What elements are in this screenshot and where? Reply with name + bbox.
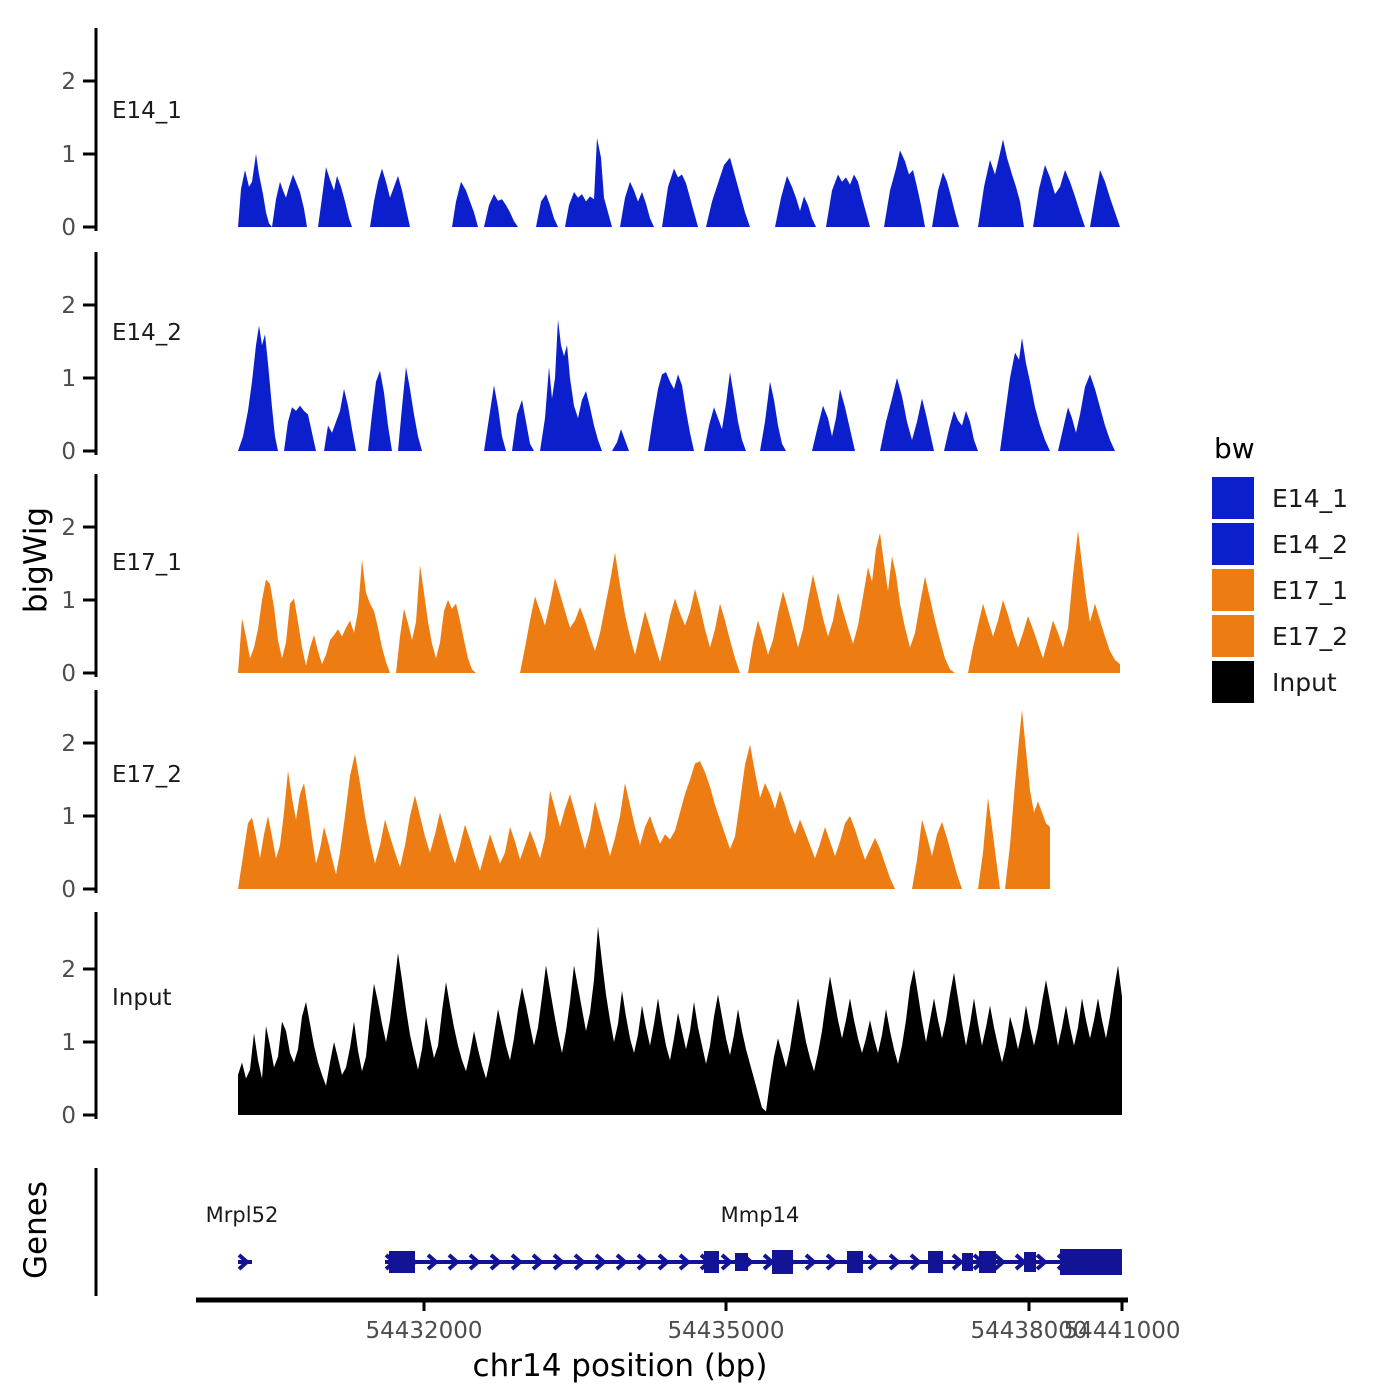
gene-exon-Mmp14-7 bbox=[962, 1253, 973, 1271]
y-tick-label-E17_1-0: 0 bbox=[61, 661, 76, 687]
track-label-E17_2: E17_2 bbox=[112, 762, 182, 788]
legend: bw E14_1 E14_2 E17_1 E17_2 Input bbox=[1212, 432, 1348, 705]
legend-swatch-e17-2 bbox=[1212, 615, 1254, 657]
x-tick-label-54432000: 54432000 bbox=[365, 1318, 482, 1344]
y-tick-label-Input-2: 2 bbox=[61, 957, 76, 983]
y-tick-label-Input-1: 1 bbox=[61, 1030, 76, 1056]
gene-exon-Mmp14-4 bbox=[772, 1250, 793, 1274]
legend-swatch-input bbox=[1212, 661, 1254, 703]
legend-swatch-e14-2 bbox=[1212, 523, 1254, 565]
coverage-plot: 012E14_1012E14_2012E17_1012E17_2012Input… bbox=[0, 0, 1400, 1400]
coverage-area-Input bbox=[238, 927, 1122, 1115]
legend-item-e17-1[interactable]: E17_1 bbox=[1212, 567, 1348, 613]
y-tick-label-E17_2-0: 0 bbox=[61, 877, 76, 903]
coverage-area-E17_1 bbox=[238, 531, 1120, 673]
legend-item-e17-2[interactable]: E17_2 bbox=[1212, 613, 1348, 659]
gene-exon-Mmp14-1 bbox=[389, 1251, 415, 1273]
track-label-Input: Input bbox=[112, 985, 172, 1011]
gene-label-Mmp14: Mmp14 bbox=[721, 1203, 800, 1227]
gene-exon-Mmp14-9 bbox=[1024, 1252, 1036, 1272]
gene-exon-Mmp14-5 bbox=[847, 1251, 863, 1273]
legend-swatch-e14-1 bbox=[1212, 477, 1254, 519]
legend-label-e14-1: E14_1 bbox=[1272, 484, 1348, 513]
gene-exon-Mmp14-8 bbox=[979, 1251, 996, 1273]
y-tick-label-Input-0: 0 bbox=[61, 1103, 76, 1129]
gene-exon-Mmp14-3 bbox=[735, 1253, 748, 1271]
legend-label-e14-2: E14_2 bbox=[1272, 530, 1348, 559]
y-tick-label-E17_2-1: 1 bbox=[61, 804, 76, 830]
y-tick-label-E14_2-2: 2 bbox=[61, 293, 76, 319]
y-tick-label-E17_2-2: 2 bbox=[61, 731, 76, 757]
y-tick-label-E14_2-1: 1 bbox=[61, 366, 76, 392]
track-label-E17_1: E17_1 bbox=[112, 550, 182, 576]
gene-label-Mrpl52: Mrpl52 bbox=[206, 1203, 279, 1227]
legend-item-input[interactable]: Input bbox=[1212, 659, 1348, 705]
y-tick-label-E14_1-1: 1 bbox=[61, 142, 76, 168]
track-label-E14_2: E14_2 bbox=[112, 320, 182, 346]
coverage-area-E14_1 bbox=[238, 138, 1120, 227]
legend-swatch-e17-1 bbox=[1212, 569, 1254, 611]
track-label-E14_1: E14_1 bbox=[112, 98, 182, 124]
x-tick-label-54441000: 54441000 bbox=[1063, 1318, 1180, 1344]
y-tick-label-E17_1-2: 2 bbox=[61, 515, 76, 541]
coverage-area-E17_2 bbox=[238, 710, 1050, 889]
y-tick-label-E17_1-1: 1 bbox=[61, 588, 76, 614]
y-tick-label-E14_2-0: 0 bbox=[61, 439, 76, 465]
y-tick-label-E14_1-0: 0 bbox=[61, 215, 76, 241]
legend-label-input: Input bbox=[1272, 668, 1337, 697]
gene-exon-Mmp14-2 bbox=[704, 1251, 719, 1273]
legend-item-e14-1[interactable]: E14_1 bbox=[1212, 475, 1348, 521]
y-tick-label-E14_1-2: 2 bbox=[61, 69, 76, 95]
gene-exon-Mmp14-10 bbox=[1060, 1249, 1122, 1275]
x-tick-label-54435000: 54435000 bbox=[667, 1318, 784, 1344]
legend-label-e17-2: E17_2 bbox=[1272, 622, 1348, 651]
gene-exon-Mmp14-6 bbox=[928, 1251, 943, 1273]
legend-title: bw bbox=[1214, 432, 1348, 465]
legend-label-e17-1: E17_1 bbox=[1272, 576, 1348, 605]
legend-item-e14-2[interactable]: E14_2 bbox=[1212, 521, 1348, 567]
coverage-area-E14_2 bbox=[238, 320, 1115, 451]
